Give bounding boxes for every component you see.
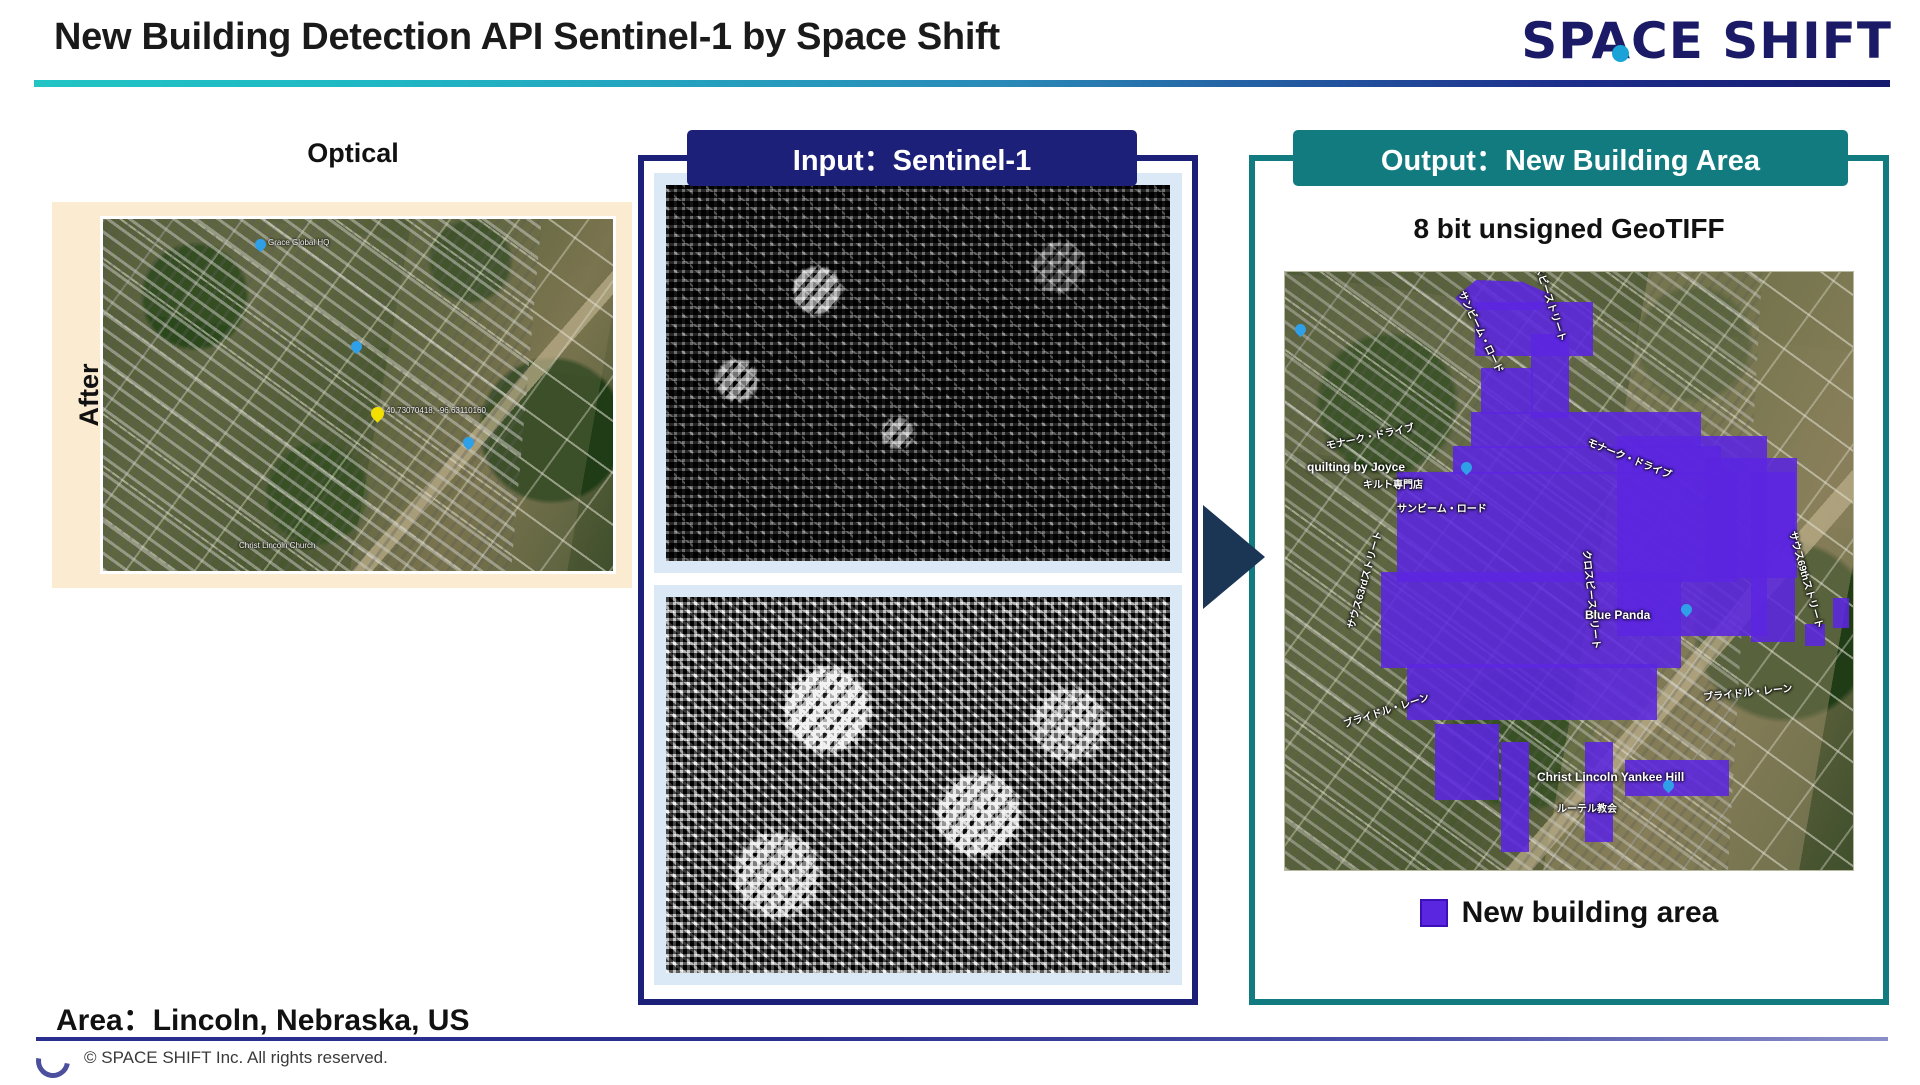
geotiff-format-note: 8 bit unsigned GeoTIFF <box>1255 213 1883 245</box>
legend-swatch-new-building <box>1420 899 1448 927</box>
street-label: キルト専門店 <box>1363 476 1423 491</box>
page-title: New Building Detection API Sentinel-1 by… <box>54 16 1000 59</box>
optical-column: Before Grace Global HQ quilting by Joyce… <box>52 202 632 988</box>
poi-label: Christ Lincoln Yankee Hill <box>1537 770 1684 784</box>
street-label: サンビーム・ロード <box>1397 500 1487 515</box>
input-sentinel1-frame <box>638 155 1198 1005</box>
output-detection-map: クロスビーストリート サンビーム・ロード モナーク・ドライブ quilting … <box>1284 271 1854 871</box>
poi-label: Blue Panda <box>1585 608 1650 622</box>
output-frame: 8 bit unsigned GeoTIFF クロスビーストリート サンビーム・… <box>1249 155 1889 1005</box>
brand-wordmark: SPACE SHIFT <box>1521 12 1892 70</box>
sar-before-card <box>654 173 1182 573</box>
space-shift-logo: SPACE SHIFT <box>1521 12 1892 70</box>
input-banner: Input：Sentinel-1 <box>687 130 1137 186</box>
sar-after-card <box>654 585 1182 985</box>
footer-logo-icon <box>29 1037 76 1084</box>
slide-header: New Building Detection API Sentinel-1 by… <box>0 0 1920 96</box>
output-legend: New building area <box>1255 896 1883 930</box>
optical-column-heading: Optical <box>288 138 418 169</box>
output-banner: Output：New Building Area <box>1293 130 1848 186</box>
street-label: ルーテル教会 <box>1557 800 1617 815</box>
sar-before-image <box>666 185 1170 561</box>
optical-after-image: Grace Global HQ 40.73070418, -96.6311016… <box>100 216 616 574</box>
poi-label: quilting by Joyce <box>1307 460 1405 474</box>
sar-after-image <box>666 597 1170 973</box>
optical-after-card: After Grace Global HQ 40.73070418, -96.6… <box>52 202 632 588</box>
title-divider <box>34 80 1890 87</box>
copyright-text: © SPACE SHIFT Inc. All rights reserved. <box>84 1048 388 1068</box>
footer-divider <box>36 1037 1888 1041</box>
area-label: Area：Lincoln, Nebraska, US <box>56 995 469 1039</box>
legend-label: New building area <box>1462 896 1719 930</box>
flow-arrow-icon <box>1203 505 1265 609</box>
